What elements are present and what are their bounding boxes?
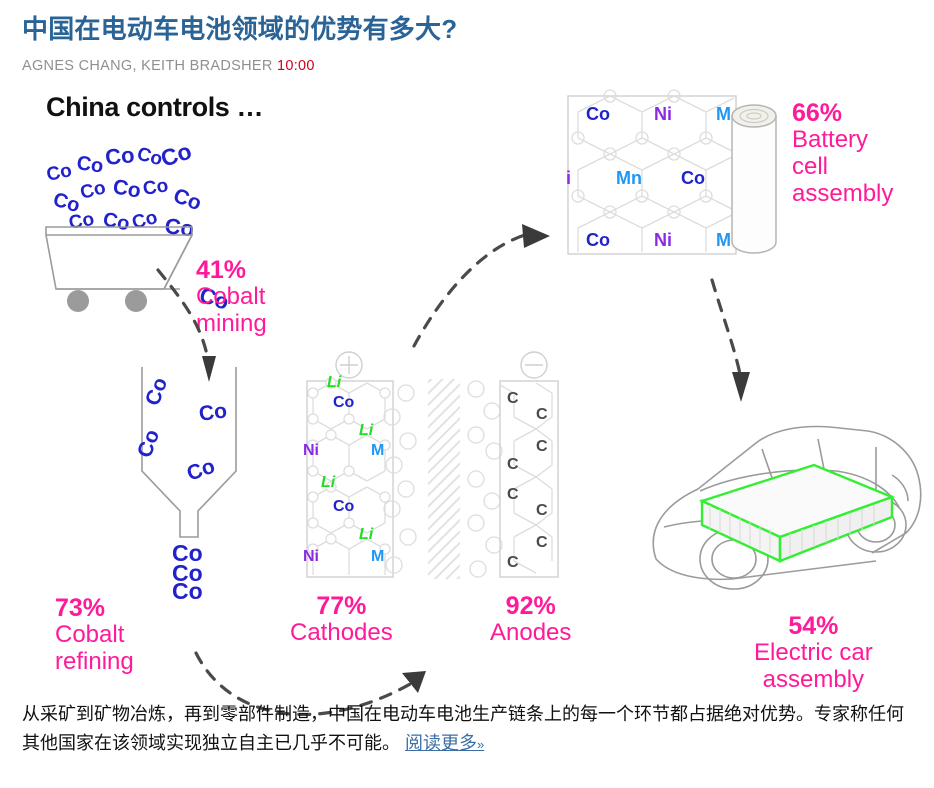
- svg-text:Ni: Ni: [303, 548, 319, 565]
- infographic: China controls … Co Co Co Co Co Co Co Co…: [0, 74, 934, 644]
- svg-text:C: C: [507, 554, 519, 571]
- battery-cell-line3: assembly: [792, 181, 893, 208]
- byline: AGNES CHANG, KEITH BRADSHER 10:00: [22, 58, 912, 74]
- anodes-pct: 92%: [490, 592, 571, 620]
- svg-text:M: M: [716, 104, 731, 124]
- svg-text:Co: Co: [586, 104, 610, 124]
- battery-cell-line1: Battery: [792, 127, 893, 154]
- timestamp: 10:00: [277, 58, 315, 74]
- label-cathodes: 77% Cathodes: [290, 592, 393, 647]
- svg-text:Co: Co: [45, 160, 74, 186]
- arrow-cell-to-car: [700, 274, 780, 414]
- electric-car-line2: assembly: [754, 667, 873, 694]
- svg-text:Co: Co: [130, 207, 160, 234]
- chevron-right-icon: »: [477, 737, 484, 752]
- svg-text:Li: Li: [359, 422, 374, 439]
- label-anodes: 92% Anodes: [490, 592, 571, 647]
- svg-text:C: C: [536, 502, 548, 519]
- svg-text:Co: Co: [67, 209, 96, 234]
- battery-cell-pct: 66%: [792, 99, 893, 127]
- graphic-title: China controls …: [46, 92, 263, 123]
- byline-authors: AGNES CHANG, KEITH BRADSHER: [22, 58, 273, 74]
- label-battery-cell: 66% Battery cell assembly: [792, 99, 893, 208]
- page-title: 中国在电动车电池领域的优势有多大?: [22, 14, 912, 45]
- arrow-cell-to-assembly: [400, 214, 560, 354]
- svg-text:Co: Co: [172, 578, 203, 604]
- anode-illustration: C C C C C C C C: [498, 379, 560, 579]
- read-more-link[interactable]: 阅读更多»: [405, 733, 484, 753]
- caption: 从采矿到矿物冶炼，再到零部件制造，中国在电动车电池生产链条上的每一个环节都占据绝…: [22, 700, 912, 758]
- article-header: 中国在电动车电池领域的优势有多大? AGNES CHANG, KEITH BRA…: [0, 0, 934, 74]
- read-more-label: 阅读更多: [405, 733, 477, 753]
- svg-text:Co: Co: [78, 178, 108, 205]
- label-cobalt-refining: 73% Cobalt refining: [55, 594, 134, 676]
- svg-text:Co: Co: [141, 175, 169, 200]
- electric-car-illustration: [640, 409, 930, 609]
- svg-text:Co: Co: [333, 394, 355, 411]
- cobalt-refining-pct: 73%: [55, 594, 134, 622]
- svg-text:Ni: Ni: [303, 442, 319, 459]
- svg-text:Mn: Mn: [616, 168, 642, 188]
- cobalt-refining-illustration: Co Co Co Co Co Co Co: [128, 359, 258, 599]
- svg-text:C: C: [536, 438, 548, 455]
- svg-text:i: i: [566, 168, 571, 188]
- cobalt-refining-line1: Cobalt: [55, 622, 134, 649]
- electric-car-pct: 54%: [754, 612, 873, 640]
- article-card: 中国在电动车电池领域的优势有多大? AGNES CHANG, KEITH BRA…: [0, 0, 934, 788]
- negative-electrode-icon: [519, 350, 549, 380]
- svg-text:Ni: Ni: [654, 230, 672, 250]
- svg-text:Li: Li: [321, 474, 336, 491]
- cathodes-pct: 77%: [290, 592, 393, 620]
- svg-text:Co: Co: [141, 375, 172, 409]
- cobalt-refining-line2: refining: [55, 649, 134, 676]
- label-electric-car: 54% Electric car assembly: [754, 612, 873, 694]
- svg-text:M: M: [716, 230, 731, 250]
- svg-text:Co: Co: [170, 184, 204, 215]
- cathode-illustration: Li Co Li Ni M Li Co Li Ni M: [305, 379, 395, 579]
- svg-text:C: C: [507, 456, 519, 473]
- svg-text:Li: Li: [327, 374, 342, 391]
- battery-cell-illustration: Co Ni M i Mn Co Co Ni M: [566, 94, 786, 269]
- svg-text:Co: Co: [184, 455, 218, 486]
- cathodes-line1: Cathodes: [290, 620, 393, 647]
- svg-text:C: C: [507, 486, 519, 503]
- svg-text:Co: Co: [111, 175, 143, 203]
- anodes-line1: Anodes: [490, 620, 571, 647]
- svg-text:Co: Co: [681, 168, 705, 188]
- svg-text:Co: Co: [75, 152, 104, 177]
- svg-text:Li: Li: [359, 526, 374, 543]
- svg-text:M: M: [371, 442, 384, 459]
- battery-cell-line2: cell: [792, 154, 893, 181]
- svg-text:M: M: [371, 548, 384, 565]
- svg-text:Co: Co: [197, 399, 228, 426]
- svg-text:Co: Co: [133, 427, 164, 461]
- svg-text:Co: Co: [158, 138, 195, 172]
- svg-text:C: C: [536, 534, 548, 551]
- svg-text:Co: Co: [101, 209, 132, 236]
- svg-text:Co: Co: [333, 498, 355, 515]
- svg-text:C: C: [507, 390, 519, 407]
- svg-text:C: C: [536, 406, 548, 423]
- svg-text:Co: Co: [104, 142, 136, 170]
- svg-text:Co: Co: [586, 230, 610, 250]
- electric-car-line1: Electric car: [754, 640, 873, 667]
- svg-text:Ni: Ni: [654, 104, 672, 124]
